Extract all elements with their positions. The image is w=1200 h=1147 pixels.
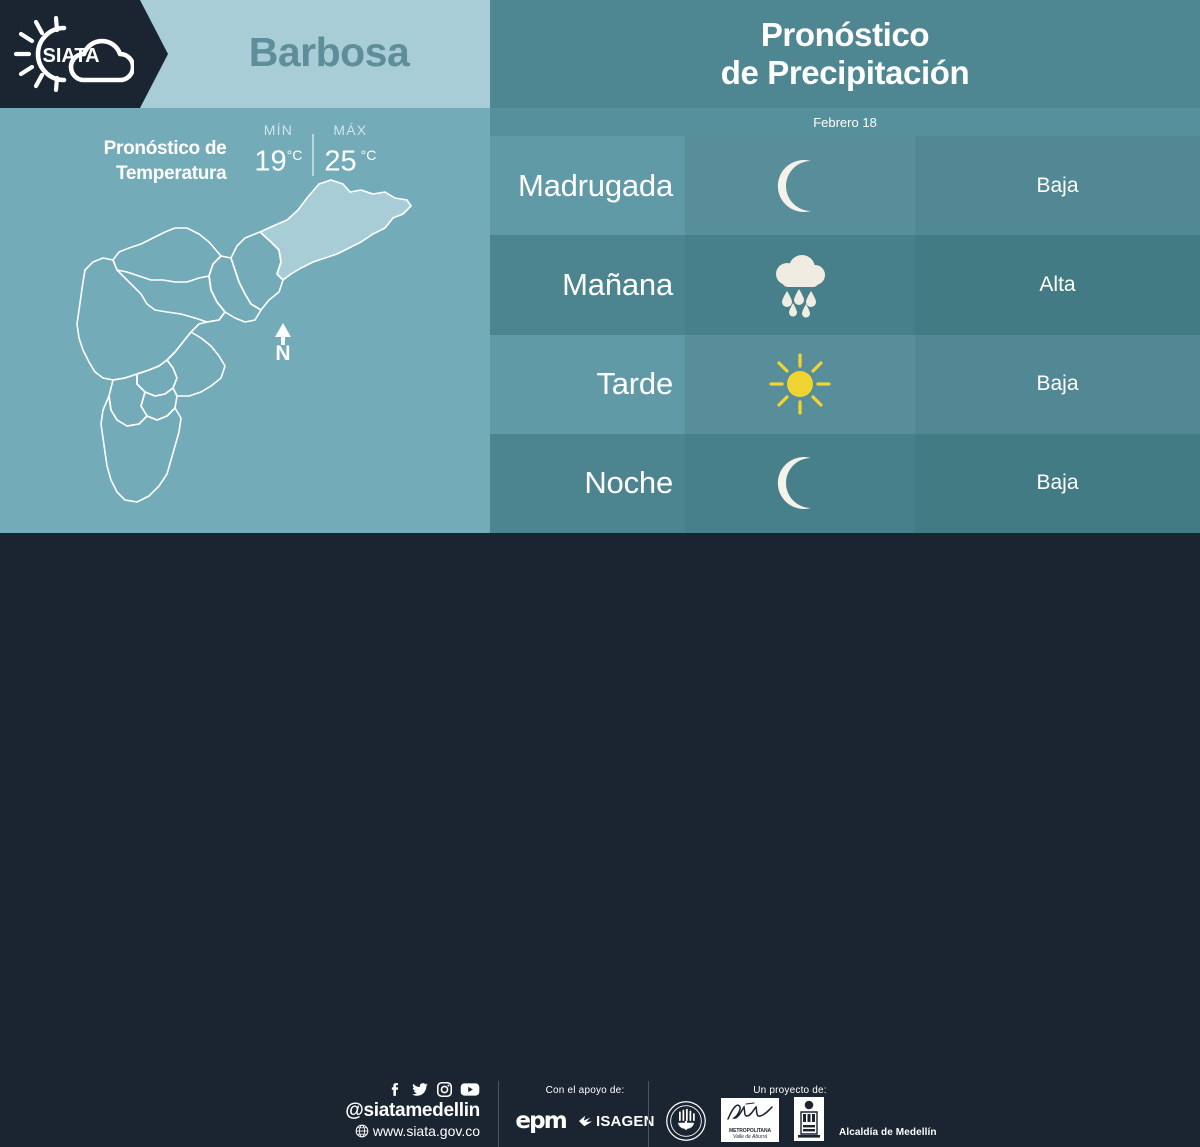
area-script-icon bbox=[724, 1101, 776, 1123]
table-row: Tarde bbox=[490, 335, 1200, 434]
aburra-valley-map: N bbox=[55, 170, 445, 520]
right-panel: Pronóstico de Precipitación Febrero 18 M… bbox=[490, 0, 1200, 533]
area-metropolitana-logo: METROPOLITANA Valle de Aburrá bbox=[721, 1098, 779, 1142]
map-region-copacabana bbox=[209, 256, 261, 322]
alcaldia-crest-icon bbox=[793, 1096, 825, 1142]
temperature-max-label: MÁX bbox=[333, 122, 367, 138]
left-body: Pronóstico de Temperatura MÍN 19°C MÁX 2… bbox=[0, 108, 490, 533]
forecast-probability-label: Alta bbox=[1039, 273, 1075, 297]
map-region-barbosa bbox=[260, 180, 411, 280]
map-region-medellin bbox=[77, 258, 225, 380]
footer-divider-2 bbox=[648, 1081, 649, 1147]
forecast-period-cell: Mañana bbox=[490, 235, 685, 334]
youtube-icon[interactable] bbox=[460, 1081, 480, 1098]
left-header: SIATA Barbosa bbox=[0, 0, 490, 108]
forecast-icon-cell bbox=[685, 235, 915, 334]
page-title: Barbosa bbox=[168, 0, 490, 108]
forecast-probability-label: Baja bbox=[1036, 471, 1078, 495]
forecast-period-label: Mañana bbox=[562, 267, 673, 303]
forecast-icon-cell bbox=[685, 335, 915, 434]
udea-seal-icon bbox=[665, 1100, 707, 1142]
sun-icon bbox=[763, 347, 837, 421]
forecast-period-cell: Madrugada bbox=[490, 136, 685, 235]
epm-logo: epm bbox=[515, 1108, 566, 1134]
globe-icon bbox=[355, 1124, 369, 1138]
support-caption: Con el apoyo de: bbox=[505, 1085, 665, 1096]
project-caption: Un proyecto de: bbox=[700, 1085, 880, 1096]
precipitation-title-line2: de Precipitación bbox=[721, 54, 970, 92]
forecast-icon-cell bbox=[685, 434, 915, 533]
footer-divider-1 bbox=[498, 1081, 499, 1147]
forecast-date: Febrero 18 bbox=[490, 108, 1200, 136]
isagen-logo: ISAGEN bbox=[578, 1113, 655, 1130]
table-row: Madrugada Baja bbox=[490, 136, 1200, 235]
forecast-probability-cell: Baja bbox=[915, 434, 1200, 533]
map-region-la-estrella bbox=[109, 374, 147, 426]
temperature-max-unit: °C bbox=[361, 147, 377, 163]
temperature-min-label: MÍN bbox=[264, 122, 293, 138]
forecast-probability-cell: Alta bbox=[915, 235, 1200, 334]
forecast-table: Madrugada Baja Mañana bbox=[490, 136, 1200, 533]
forecast-period-label: Noche bbox=[584, 465, 673, 501]
compass-north-icon: N bbox=[275, 323, 291, 365]
compass-label: N bbox=[275, 342, 290, 365]
forecast-probability-label: Baja bbox=[1036, 372, 1078, 396]
weather-forecast-poster: SIATA Barbosa Pronóstico de Temperatura … bbox=[0, 0, 1200, 630]
moon-icon bbox=[763, 149, 837, 223]
footer: @siatamedellin www.siata.gov.co Con el a… bbox=[0, 533, 1200, 630]
map-svg: N bbox=[55, 170, 445, 520]
brand-chevron: SIATA bbox=[0, 0, 168, 108]
facebook-icon[interactable] bbox=[387, 1081, 404, 1098]
alcaldia-label: Alcaldía de Medellín bbox=[839, 1127, 937, 1142]
map-region-caldas bbox=[101, 396, 181, 502]
left-panel: SIATA Barbosa Pronóstico de Temperatura … bbox=[0, 0, 490, 533]
table-row: Mañana bbox=[490, 235, 1200, 334]
forecast-probability-cell: Baja bbox=[915, 335, 1200, 434]
rain-cloud-icon bbox=[763, 248, 837, 322]
twitter-icon[interactable] bbox=[411, 1081, 429, 1098]
social-block: @siatamedellin www.siata.gov.co bbox=[330, 1081, 480, 1140]
isagen-wordmark: ISAGEN bbox=[596, 1113, 655, 1130]
area-line2: Valle de Aburrá bbox=[723, 1134, 777, 1140]
support-block: Con el apoyo de: epm ISAGEN bbox=[505, 1085, 665, 1134]
forecast-icon-cell bbox=[685, 136, 915, 235]
instagram-icon[interactable] bbox=[436, 1081, 453, 1098]
forecast-period-label: Madrugada bbox=[518, 168, 673, 204]
moon-icon bbox=[763, 446, 837, 520]
social-icons bbox=[387, 1081, 480, 1098]
forecast-probability-cell: Baja bbox=[915, 136, 1200, 235]
precipitation-title-line1: Pronóstico bbox=[761, 16, 929, 54]
map-region-bello bbox=[113, 228, 225, 322]
isagen-mark-icon bbox=[578, 1114, 594, 1128]
temperature-title-line1: Pronóstico de bbox=[104, 136, 227, 161]
map-region-envigado bbox=[167, 332, 225, 396]
support-logos: epm ISAGEN bbox=[505, 1108, 665, 1134]
sun-cloud-icon: SIATA bbox=[12, 14, 134, 94]
project-logos: METROPOLITANA Valle de Aburrá Alcaldía d… bbox=[665, 1096, 937, 1142]
temperature-min-unit: °C bbox=[287, 147, 303, 163]
table-row: Noche Baja bbox=[490, 434, 1200, 533]
website-url: www.siata.gov.co bbox=[373, 1122, 480, 1140]
precipitation-header: Pronóstico de Precipitación bbox=[490, 0, 1200, 108]
social-handle[interactable]: @siatamedellin bbox=[345, 1100, 480, 1122]
forecast-probability-label: Baja bbox=[1036, 174, 1078, 198]
forecast-period-cell: Tarde bbox=[490, 335, 685, 434]
website-row[interactable]: www.siata.gov.co bbox=[355, 1122, 480, 1140]
forecast-period-label: Tarde bbox=[596, 366, 673, 402]
forecast-period-cell: Noche bbox=[490, 434, 685, 533]
siata-wordmark: SIATA bbox=[42, 45, 99, 67]
